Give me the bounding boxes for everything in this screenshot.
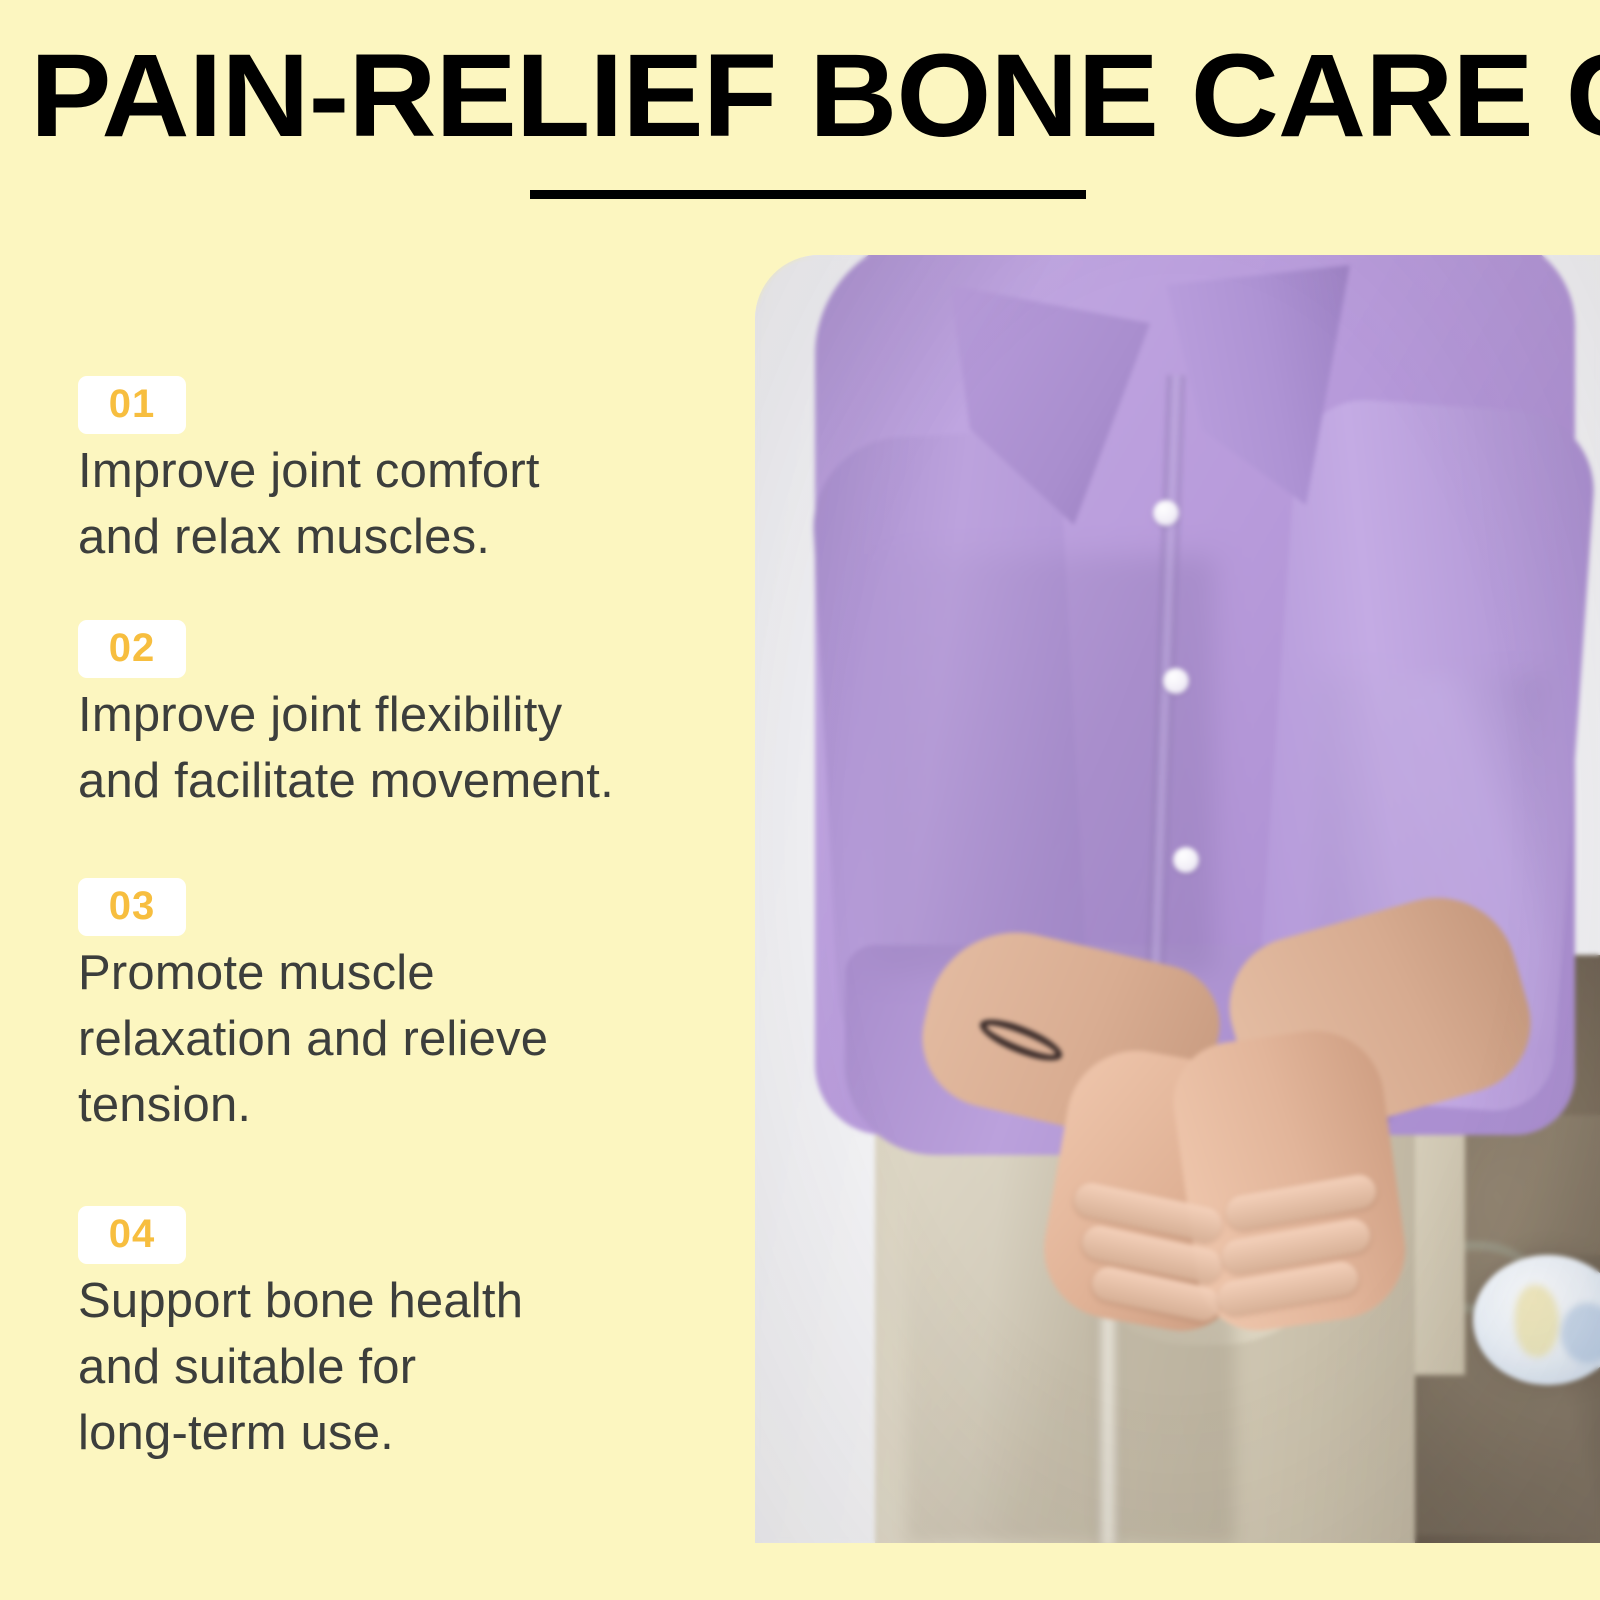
feature-number-badge: 01 bbox=[78, 376, 186, 434]
feature-description: Support bone health and suitable for lon… bbox=[78, 1268, 698, 1466]
shirt-button bbox=[1153, 500, 1179, 526]
trouser-crease bbox=[1095, 1315, 1121, 1543]
list-item: 02 Improve joint flexibility and facilit… bbox=[78, 620, 698, 814]
feature-description: Improve joint comfort and relax muscles. bbox=[78, 438, 698, 570]
shirt-button bbox=[1173, 847, 1199, 873]
list-item: 03 Promote muscle relaxation and relieve… bbox=[78, 878, 698, 1138]
feature-number-badge: 02 bbox=[78, 620, 186, 678]
list-item: 01 Improve joint comfort and relax muscl… bbox=[78, 376, 698, 570]
feature-description: Improve joint flexibility and facilitate… bbox=[78, 682, 698, 814]
feature-number-badge: 04 bbox=[78, 1206, 186, 1264]
feature-number-badge: 03 bbox=[78, 878, 186, 936]
product-photo bbox=[755, 255, 1600, 1543]
list-item: 04 Support bone health and suitable for … bbox=[78, 1206, 698, 1466]
feature-description: Promote muscle relaxation and relieve te… bbox=[78, 940, 698, 1138]
page-title: PAIN-RELIEF BONE CARE CREAM bbox=[30, 40, 1600, 152]
title-underline-rule bbox=[530, 190, 1086, 199]
shirt-button bbox=[1163, 668, 1189, 694]
header: PAIN-RELIEF BONE CARE CREAM bbox=[0, 0, 1600, 230]
bowl-pattern bbox=[1515, 1285, 1559, 1357]
